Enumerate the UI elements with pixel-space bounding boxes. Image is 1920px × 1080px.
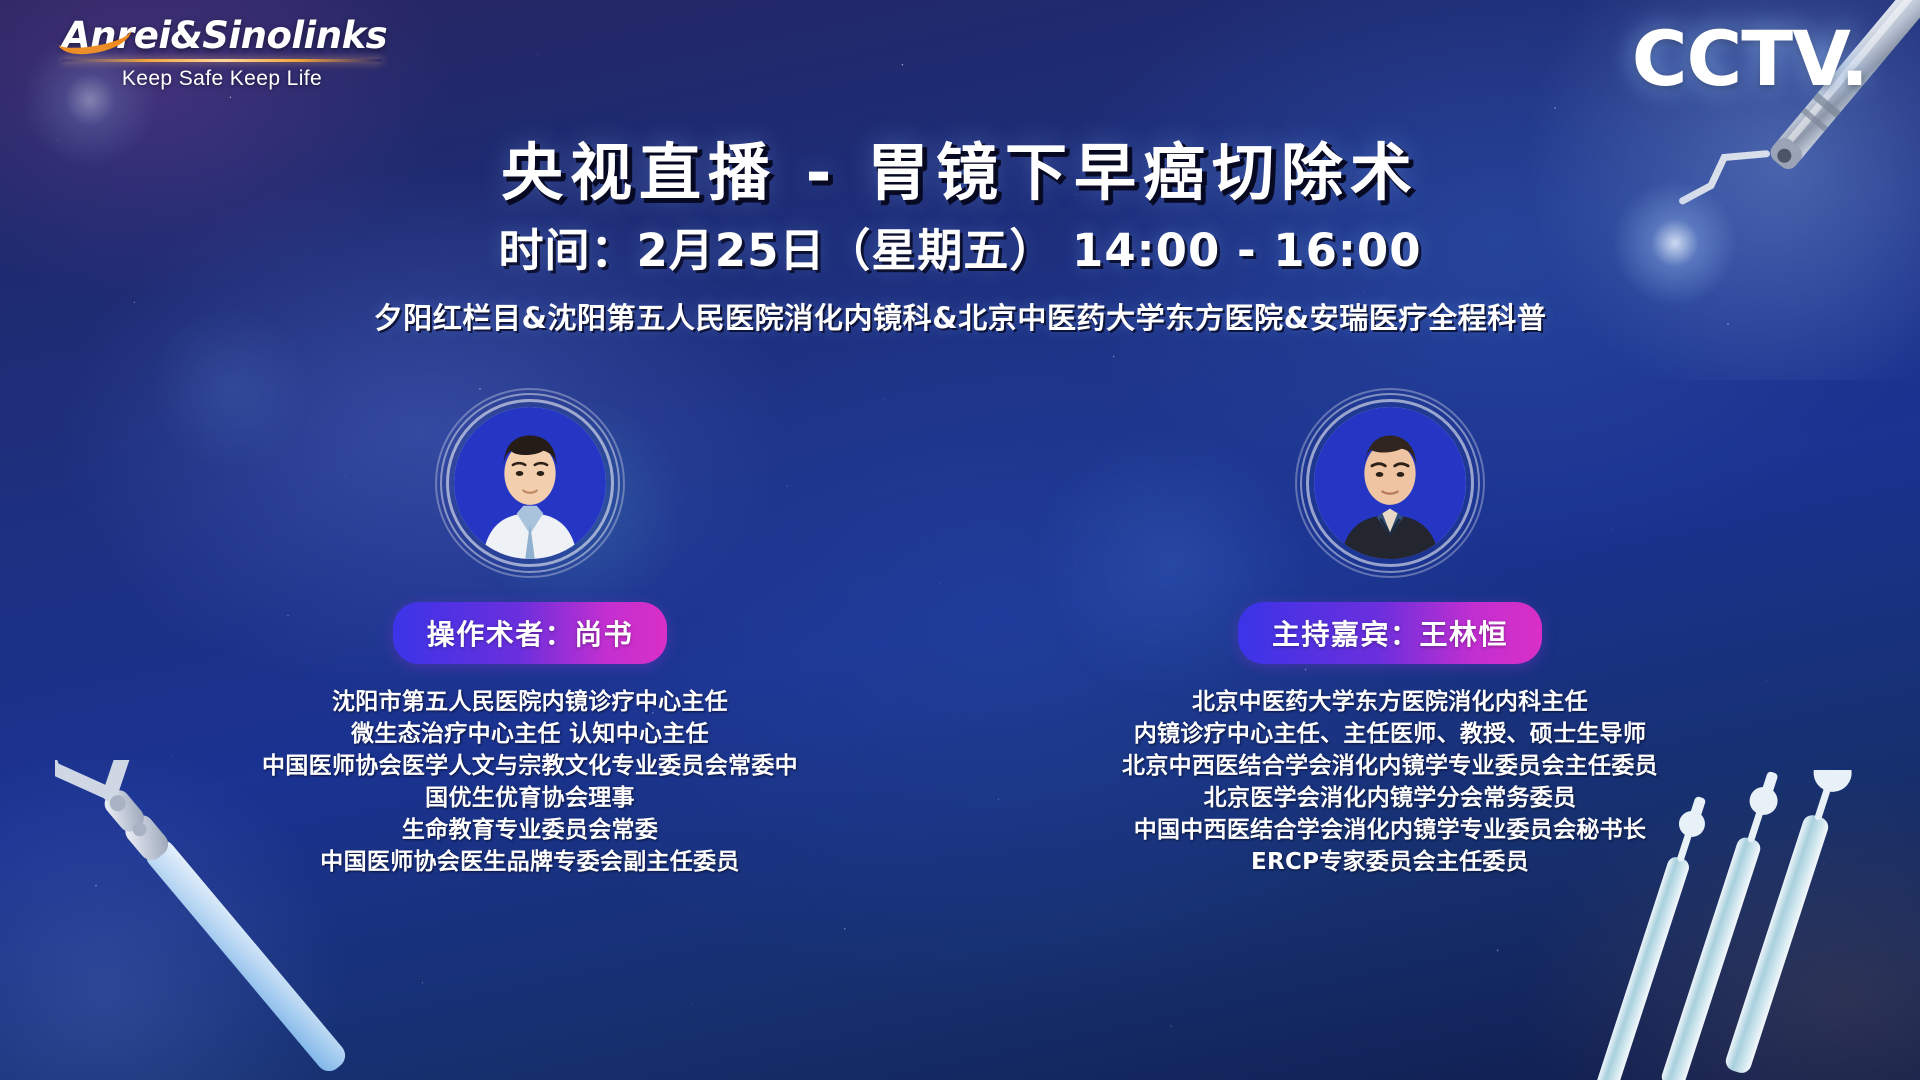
credential-line: 北京中医药大学东方医院消化内科主任 <box>1122 686 1658 718</box>
speaker-card: 主持嘉宾：王林恒 北京中医药大学东方医院消化内科主任 内镜诊疗中心主任、主任医师… <box>1155 388 1625 878</box>
credential-line: 微生态治疗中心主任 认知中心主任 <box>262 718 798 750</box>
avatar <box>435 388 625 578</box>
organizers-line: 夕阳红栏目&沈阳第五人民医院消化内镜科&北京中医药大学东方医院&安瑞医疗全程科普 <box>0 295 1920 337</box>
speaker-credentials: 北京中医药大学东方医院消化内科主任 内镜诊疗中心主任、主任医师、教授、硕士生导师… <box>1122 686 1658 878</box>
credential-line: 北京中西医结合学会消化内镜学专业委员会主任委员 <box>1122 750 1658 782</box>
credential-line: 沈阳市第五人民医院内镜诊疗中心主任 <box>262 686 798 718</box>
avatar-photo-doctor-wang <box>1314 407 1466 559</box>
credential-line: ERCP专家委员会主任委员 <box>1122 846 1658 878</box>
speaker-badge: 操作术者：尚书 <box>393 602 668 664</box>
brand-tagline: Keep Safe Keep Life <box>62 67 382 91</box>
speaker-credentials: 沈阳市第五人民医院内镜诊疗中心主任 微生态治疗中心主任 认知中心主任 中国医师协… <box>262 686 798 878</box>
brand-logo: Anrei&Sinolinks Keep Safe Keep Life <box>62 14 382 91</box>
page-title: 央视直播 - 胃镜下早癌切除术 <box>0 122 1920 212</box>
credential-line: 中国中西医结合学会消化内镜学专业委员会秘书长 <box>1122 814 1658 846</box>
speakers-section: 操作术者：尚书 沈阳市第五人民医院内镜诊疗中心主任 微生态治疗中心主任 认知中心… <box>0 388 1920 878</box>
credential-line: 内镜诊疗中心主任、主任医师、教授、硕士生导师 <box>1122 718 1658 750</box>
avatar <box>1295 388 1485 578</box>
event-time: 时间：2月25日（星期五） 14:00 - 16:00 <box>0 214 1920 279</box>
live-stream-poster: Anrei&Sinolinks Keep Safe Keep Life CCTV… <box>0 0 1920 1080</box>
speaker-card: 操作术者：尚书 沈阳市第五人民医院内镜诊疗中心主任 微生态治疗中心主任 认知中心… <box>295 388 765 878</box>
speaker-badge: 主持嘉宾：王林恒 <box>1238 602 1542 664</box>
cctv-logo: CCTV. <box>1632 14 1868 103</box>
credential-line: 北京医学会消化内镜学分会常务委员 <box>1122 782 1658 814</box>
credential-line: 中国医师协会医学人文与宗教文化专业委员会常委中 <box>262 750 798 782</box>
credential-line: 生命教育专业委员会常委 <box>262 814 798 846</box>
brand-divider <box>62 59 382 62</box>
credential-line: 国优生优育协会理事 <box>262 782 798 814</box>
avatar-photo-doctor-shang <box>454 407 606 559</box>
credential-line: 中国医师协会医生品牌专委会副主任委员 <box>262 846 798 878</box>
